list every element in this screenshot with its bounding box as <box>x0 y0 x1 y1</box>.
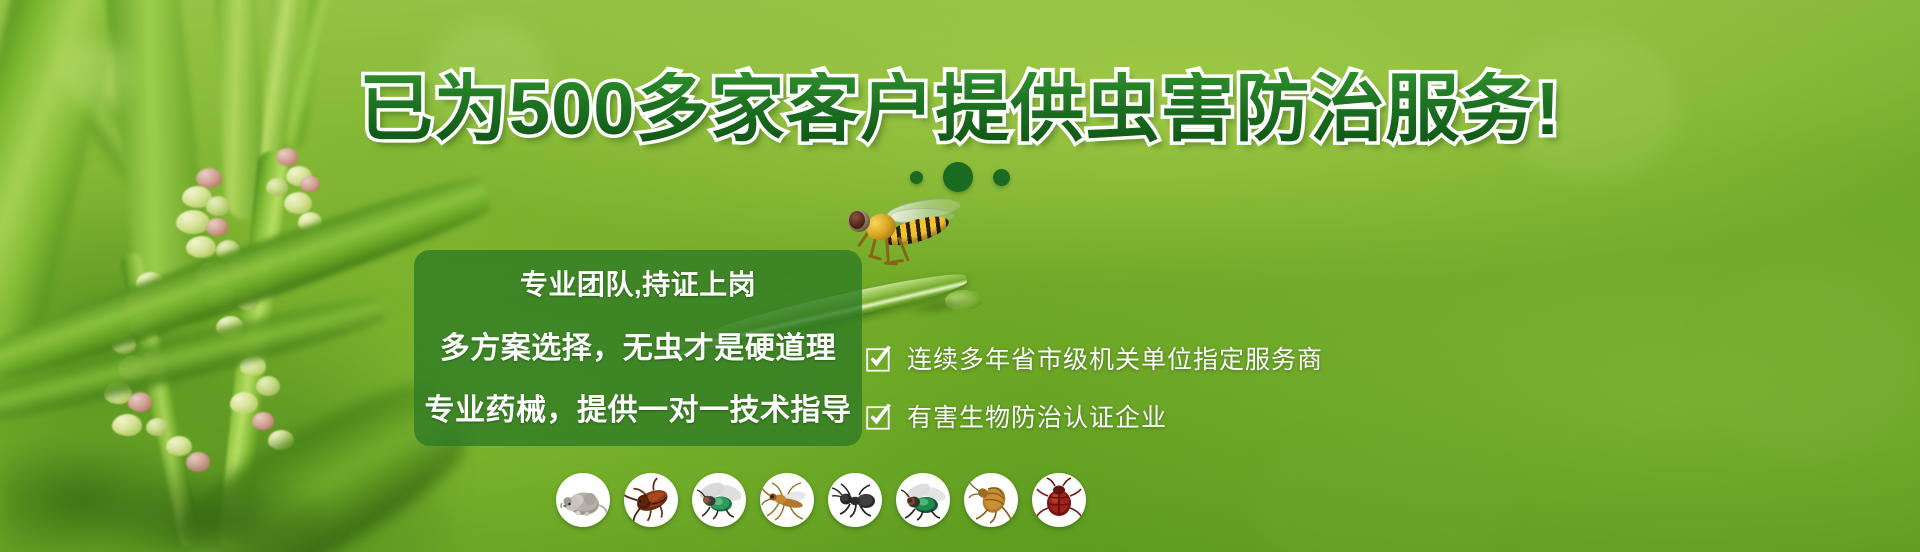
promo-line-3: 专业药械，提供一对一技术指导 <box>414 385 862 429</box>
decorative-dot-medium <box>993 169 1010 186</box>
list-item: 有害生物防治认证企业 <box>866 398 1426 434</box>
pest-control-banner: 已为500多家客户提供虫害防治服务! 已为500多家客户提供虫害防治服务! 专业… <box>0 0 1920 552</box>
ant-icon[interactable] <box>828 473 882 527</box>
decorative-dot-group <box>0 162 1920 192</box>
promo-panel: 专业团队,持证上岗 多方案选择，无虫才是硬道理 专业药械，提供一对一技术指导 <box>414 250 862 446</box>
cockroach-icon[interactable] <box>624 473 678 527</box>
promo-line-1: 专业团队,持证上岗 <box>414 263 862 303</box>
hoverfly-icon <box>846 198 966 262</box>
bedbug-icon[interactable] <box>1032 473 1086 527</box>
pest-icon-row <box>556 473 1086 527</box>
flea-icon[interactable] <box>964 473 1018 527</box>
list-item: 连续多年省市级机关单位指定服务商 <box>866 340 1426 376</box>
checkbox-checked-icon <box>866 403 893 430</box>
decorative-dot-small <box>910 171 923 184</box>
mosquito-icon[interactable] <box>760 473 814 527</box>
credential-label: 连续多年省市级机关单位指定服务商 <box>907 340 1323 376</box>
promo-line-2: 多方案选择，无虫才是硬道理 <box>414 323 862 367</box>
credentials-list: 连续多年省市级机关单位指定服务商 有害生物防治认证企业 <box>866 340 1426 456</box>
foreground-blurred-leaf <box>0 430 330 552</box>
mouse-icon[interactable] <box>556 473 610 527</box>
checkbox-checked-icon <box>866 345 893 372</box>
housefly-icon[interactable] <box>692 473 746 527</box>
decorative-dot-large <box>943 162 973 192</box>
blowfly-icon[interactable] <box>896 473 950 527</box>
credential-label: 有害生物防治认证企业 <box>907 398 1167 434</box>
